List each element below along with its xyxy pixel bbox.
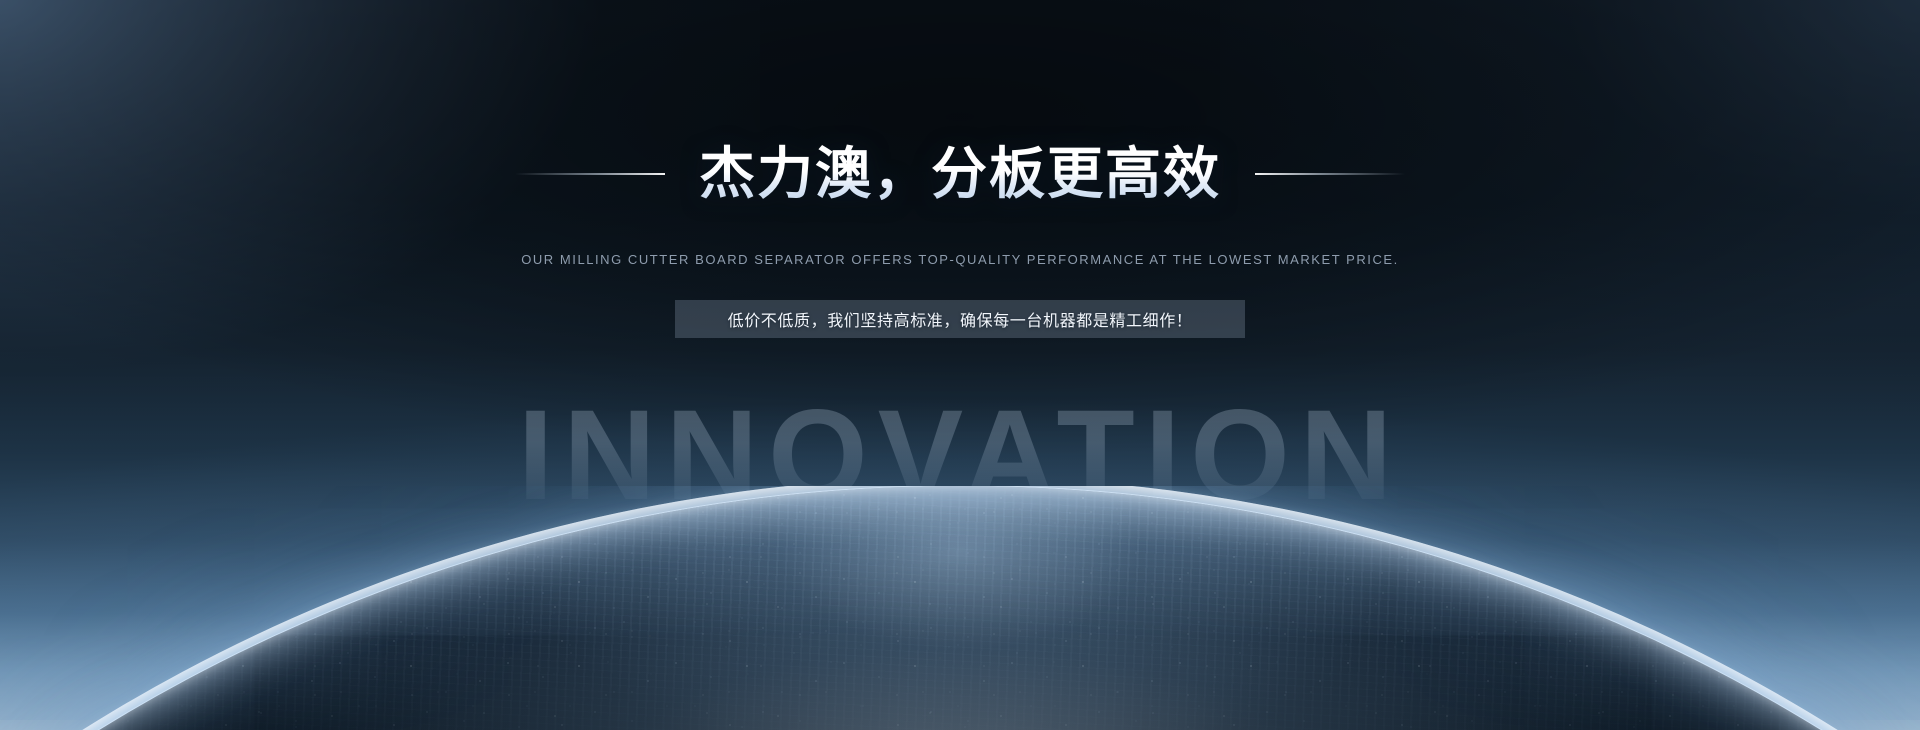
planet-earth-graphic bbox=[0, 486, 1920, 730]
divider-line-left bbox=[515, 173, 665, 175]
headline-row: 杰力澳，分板更高效 bbox=[0, 138, 1920, 210]
hero-banner: INNOVATION 杰力澳，分板更高效 OUR MILLING CUTTER … bbox=[0, 0, 1920, 730]
subtitle-text: OUR MILLING CUTTER BOARD SEPARATOR OFFER… bbox=[0, 252, 1920, 267]
page-title: 杰力澳，分板更高效 bbox=[699, 144, 1221, 204]
divider-line-right bbox=[1255, 173, 1405, 175]
atmosphere-rim bbox=[0, 486, 1920, 730]
tagline-container: 低价不低质，我们坚持高标准，确保每一台机器都是精工细作！ bbox=[0, 300, 1920, 338]
tagline-banner: 低价不低质，我们坚持高标准，确保每一台机器都是精工细作！ bbox=[675, 300, 1245, 338]
